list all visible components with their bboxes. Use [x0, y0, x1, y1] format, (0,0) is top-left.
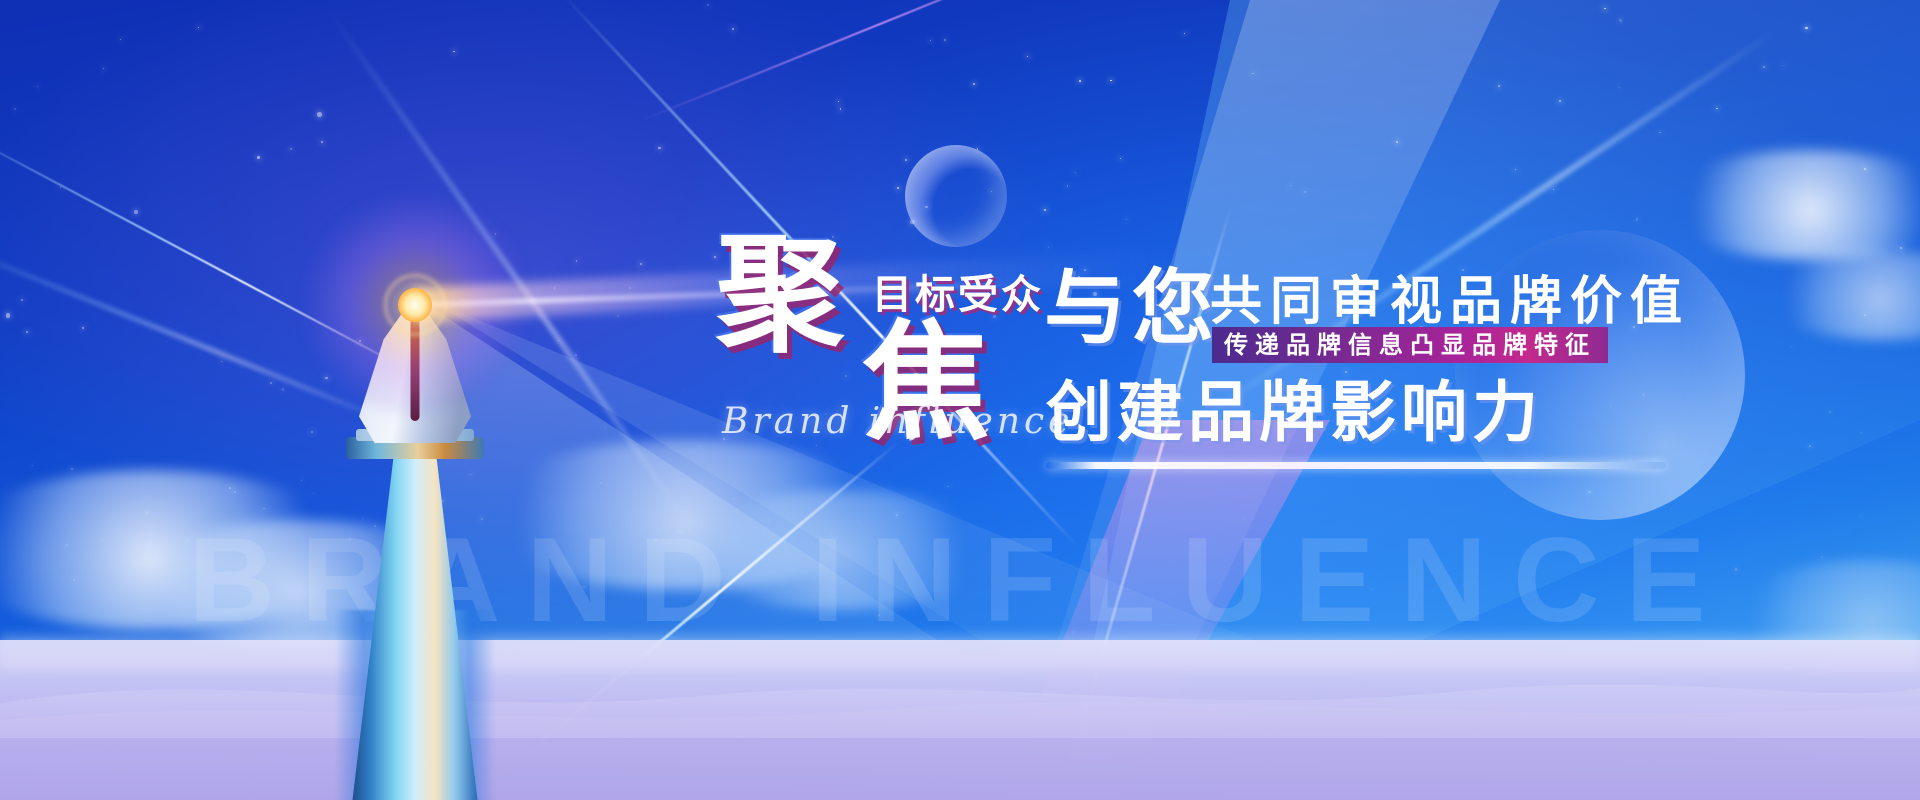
tagline-audience: 目标受众 — [872, 275, 1044, 315]
headline-char-ju: 聚 — [716, 232, 844, 360]
headline-line-1: 共同审视品牌价值 — [1210, 276, 1690, 328]
headline-lead-with-you: 与您 — [1044, 268, 1220, 350]
headline-divider-rule — [1046, 462, 1666, 469]
brand-banner: BRAND INFLUENCE 聚 焦 目标受众 Brand influence… — [0, 0, 1920, 800]
headline-content: 聚 焦 目标受众 Brand influence 与您 共同审视品牌价值 传递品… — [0, 0, 1920, 800]
script-brand-influence: Brand influence — [722, 404, 1073, 440]
headline-line-2: 创建品牌影响力 — [1046, 380, 1543, 446]
subtitle-badge: 传递品牌信息凸显品牌特征 — [1212, 327, 1608, 363]
